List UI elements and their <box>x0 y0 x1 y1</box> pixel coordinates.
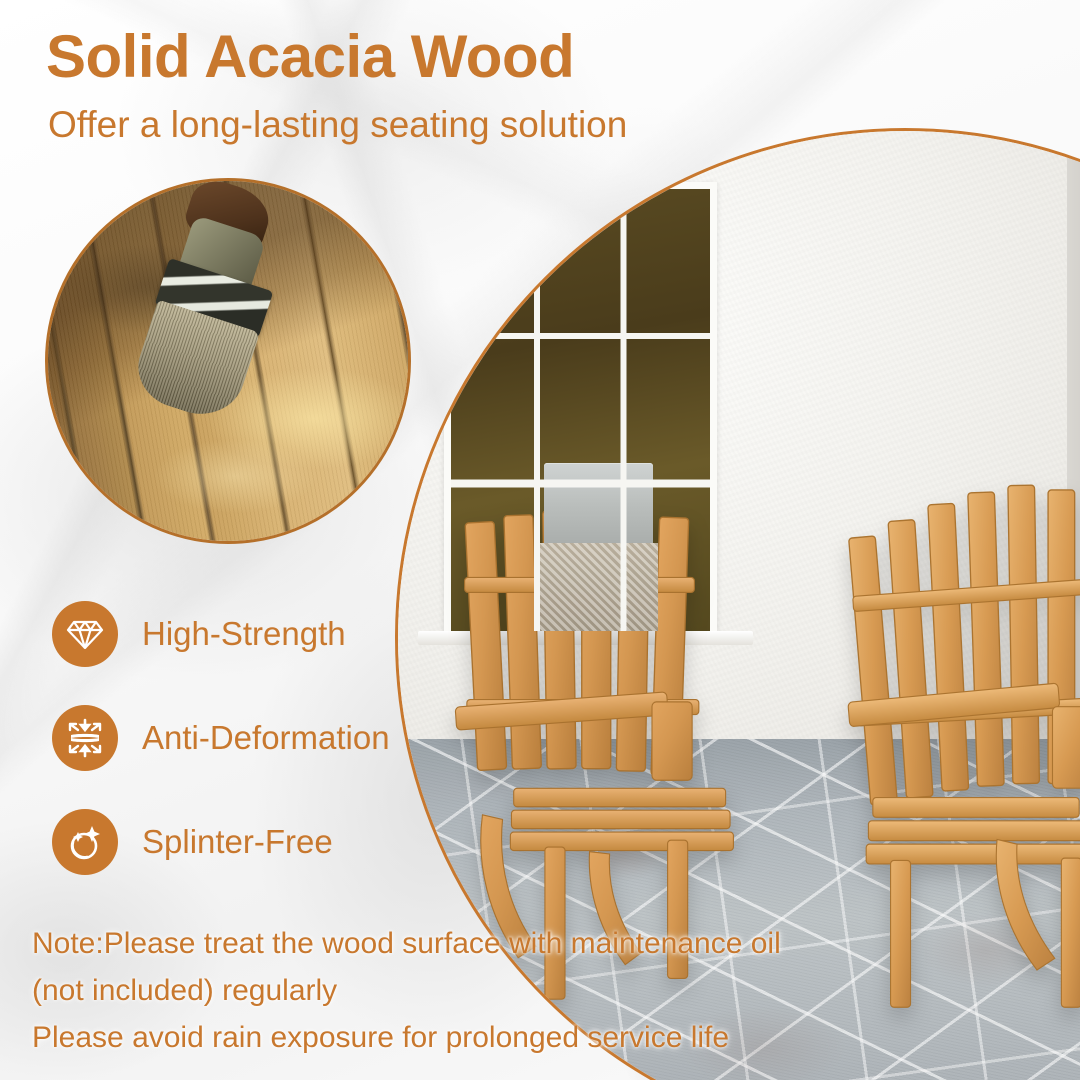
feature-list: High-Strength Anti- <box>52 582 402 894</box>
feature-label: Anti-Deformation <box>142 719 390 757</box>
wicker-basket <box>534 543 659 631</box>
feature-item-high-strength: High-Strength <box>52 582 402 686</box>
note-line: Please avoid rain exposure for prolonged… <box>32 1014 852 1061</box>
note-line: (not included) regularly <box>32 967 852 1014</box>
product-infographic: Solid Acacia Wood Offer a long-lasting s… <box>0 0 1080 1080</box>
note-line: Note:Please treat the wood surface with … <box>32 920 852 967</box>
inset-photo-circle <box>45 178 411 544</box>
feature-label: Splinter-Free <box>142 823 333 861</box>
feature-label: High-Strength <box>142 615 346 653</box>
adirondack-chair-right <box>844 476 1080 1024</box>
compression-icon <box>52 705 118 771</box>
stacked-cushions <box>544 463 653 551</box>
page-title: Solid Acacia Wood <box>46 22 574 91</box>
diamond-icon <box>52 601 118 667</box>
page-subtitle: Offer a long-lasting seating solution <box>48 104 627 146</box>
note-block: Note:Please treat the wood surface with … <box>32 920 852 1061</box>
feature-item-splinter-free: Splinter-Free <box>52 790 402 894</box>
house-window <box>444 182 718 638</box>
sparkle-ring-icon <box>52 809 118 875</box>
feature-item-anti-deformation: Anti-Deformation <box>52 686 402 790</box>
